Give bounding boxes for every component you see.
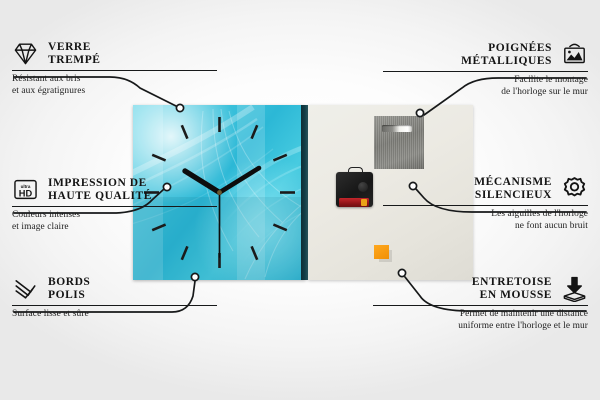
feature-header: ultra HD IMPRESSION DE HAUTE QUALITÉ — [12, 176, 217, 203]
feature-title: BORDS POLIS — [48, 276, 90, 301]
feature-mecanisme-silencieux: MÉCANISME SILENCIEUX Les aiguilles de l'… — [383, 175, 588, 232]
feature-subtitle: Couleurs intenses et image claire — [12, 210, 217, 233]
diamond-icon — [12, 40, 39, 67]
feature-title: MÉCANISME SILENCIEUX — [474, 176, 552, 201]
feature-header: VERRE TREMPÉ — [12, 40, 217, 67]
hand-pivot — [217, 190, 222, 195]
hd-label: HD — [19, 188, 33, 198]
feature-header: MÉCANISME SILENCIEUX — [383, 175, 588, 202]
feature-bords-polis: BORDS POLIS Surface lisse et sûre — [12, 275, 217, 321]
divider — [12, 305, 217, 306]
feature-title: POIGNÉES MÉTALLIQUES — [461, 42, 552, 67]
ultra-hd-icon: ultra HD — [12, 176, 39, 203]
divider — [12, 206, 217, 207]
feature-subtitle: Résistant aux bris et aux égratignures — [12, 74, 217, 97]
infographic-canvas: VERRE TREMPÉ Résistant aux bris et aux é… — [0, 0, 600, 400]
clock-side-edge — [301, 105, 308, 280]
feature-verre-trempe: VERRE TREMPÉ Résistant aux bris et aux é… — [12, 40, 217, 97]
foam-spacer — [374, 245, 389, 259]
divider — [383, 71, 588, 72]
divider — [383, 205, 588, 206]
feature-subtitle: Permet de maintenir une distance uniform… — [373, 309, 588, 332]
feature-entretoise-mousse: ENTRETOISE EN MOUSSE Permet de maintenir… — [373, 275, 588, 332]
feature-header: BORDS POLIS — [12, 275, 217, 302]
metallic-hanger-plate — [374, 116, 424, 169]
foam-spacer-icon — [561, 275, 588, 302]
mechanism-body — [336, 172, 373, 207]
hanger-slot — [382, 125, 412, 132]
feature-title: IMPRESSION DE HAUTE QUALITÉ — [48, 177, 152, 202]
feature-title: VERRE TREMPÉ — [48, 41, 101, 66]
battery-terminal — [361, 199, 367, 206]
feature-poignees-metalliques: POIGNÉES MÉTALLIQUES Facilite le montage… — [383, 41, 588, 98]
feature-subtitle: Les aiguilles de l'horloge ne font aucun… — [383, 209, 588, 232]
minute-hand — [220, 168, 260, 193]
feature-header: ENTRETOISE EN MOUSSE — [373, 275, 588, 302]
battery — [339, 198, 369, 207]
divider — [373, 305, 588, 306]
mechanism-dial — [358, 182, 368, 192]
divider — [12, 70, 217, 71]
feature-subtitle: Facilite le montage de l'horloge sur le … — [383, 75, 588, 98]
polished-edge-icon — [12, 275, 39, 302]
feature-impression-hd: ultra HD IMPRESSION DE HAUTE QUALITÉ Cou… — [12, 176, 217, 233]
picture-frame-icon — [561, 41, 588, 68]
feature-subtitle: Surface lisse et sûre — [12, 309, 217, 320]
feature-title: ENTRETOISE EN MOUSSE — [472, 276, 552, 301]
feature-header: POIGNÉES MÉTALLIQUES — [383, 41, 588, 68]
gear-icon — [561, 175, 588, 202]
clock-mechanism — [336, 167, 373, 207]
